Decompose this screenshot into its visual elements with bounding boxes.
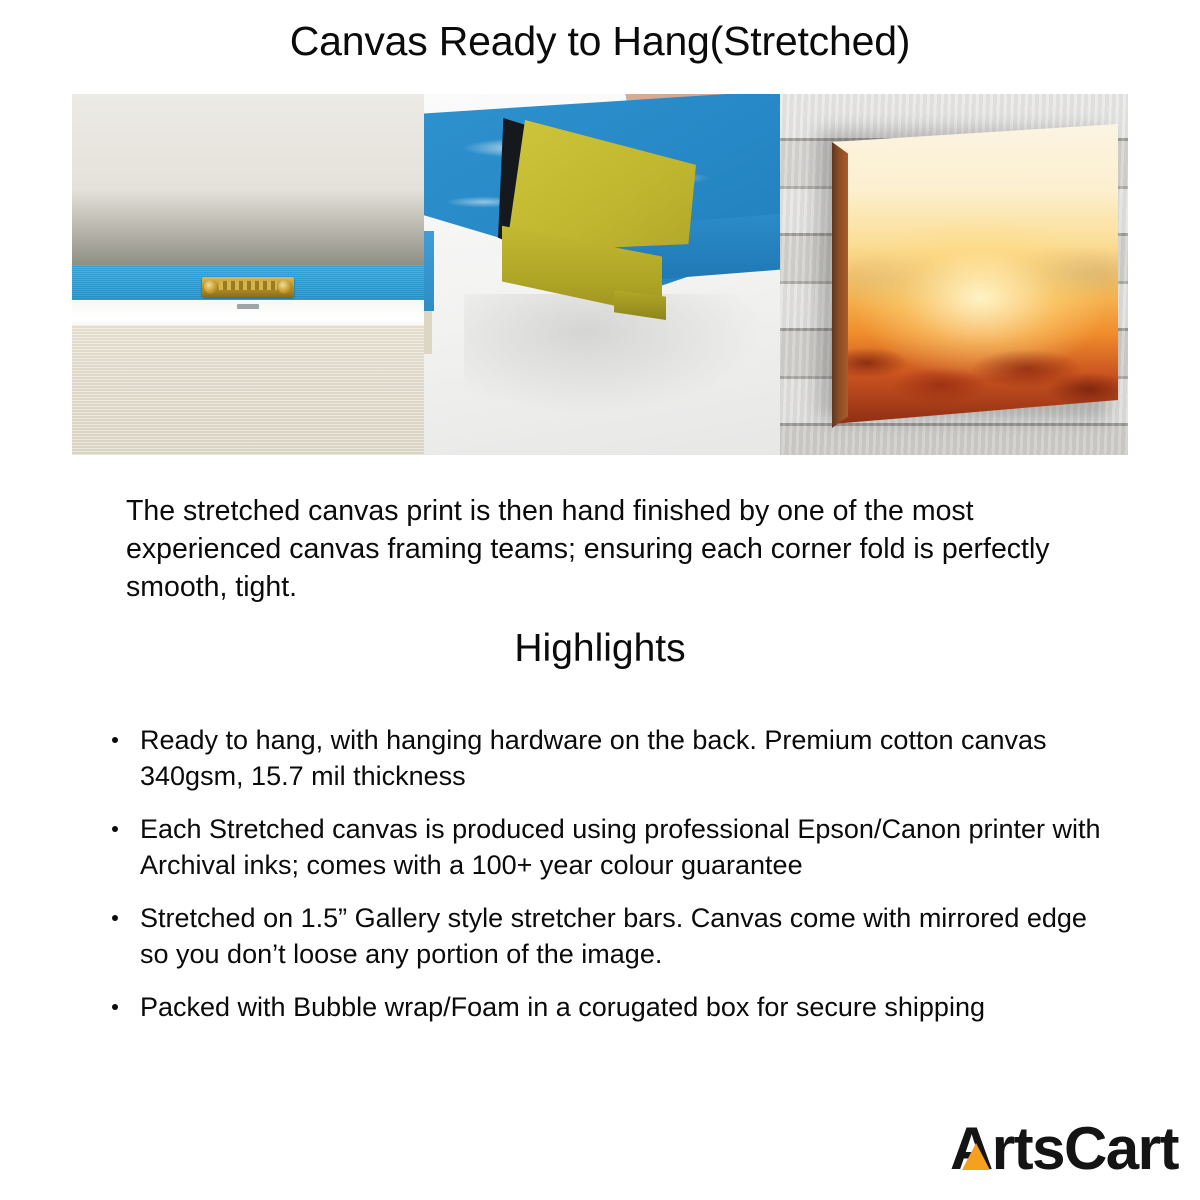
photo-canvas-back-hanging-hardware bbox=[72, 94, 424, 455]
photo-canvas-corner-fold bbox=[424, 94, 780, 455]
highlight-item: Packed with Bubble wrap/Foam in a coruga… bbox=[104, 989, 1114, 1025]
sawtooth-teeth bbox=[219, 281, 277, 290]
cotton-canvas-surface bbox=[72, 325, 424, 455]
product-infographic: Canvas Ready to Hang(Stretched) bbox=[0, 0, 1200, 1200]
page-title: Canvas Ready to Hang(Stretched) bbox=[0, 18, 1200, 65]
corner-fold-left-blue-stub bbox=[424, 231, 434, 310]
bullet-dot-icon bbox=[112, 826, 118, 832]
highlight-item-text: Each Stretched canvas is produced using … bbox=[140, 814, 1101, 880]
highlight-item-text: Packed with Bubble wrap/Foam in a coruga… bbox=[140, 992, 985, 1022]
photo-strip bbox=[72, 94, 1128, 455]
corner-fold-left-canvas-stub bbox=[424, 311, 432, 354]
highlight-item-text: Stretched on 1.5” Gallery style stretche… bbox=[140, 903, 1087, 969]
bullet-dot-icon bbox=[112, 1004, 118, 1010]
canvas-back-upper-surface bbox=[72, 94, 424, 267]
brand-logo: ArtsCart bbox=[950, 1116, 1178, 1182]
photo-canvas-hung-on-wall bbox=[780, 94, 1128, 455]
bullet-dot-icon bbox=[112, 915, 118, 921]
brand-triangle-icon bbox=[962, 1143, 990, 1170]
highlight-item: Ready to hang, with hanging hardware on … bbox=[104, 722, 1114, 794]
highlights-heading: Highlights bbox=[0, 627, 1200, 671]
hung-canvas-print bbox=[832, 124, 1118, 424]
highlights-list: Ready to hang, with hanging hardware on … bbox=[104, 722, 1114, 1042]
highlight-item: Each Stretched canvas is produced using … bbox=[104, 811, 1114, 883]
hung-canvas-side-edge bbox=[832, 142, 848, 428]
highlight-item-text: Ready to hang, with hanging hardware on … bbox=[140, 725, 1047, 791]
highlight-item: Stretched on 1.5” Gallery style stretche… bbox=[104, 900, 1114, 972]
bullet-dot-icon bbox=[112, 737, 118, 743]
description-paragraph: The stretched canvas print is then hand … bbox=[126, 492, 1076, 606]
hanger-nail bbox=[237, 304, 259, 309]
